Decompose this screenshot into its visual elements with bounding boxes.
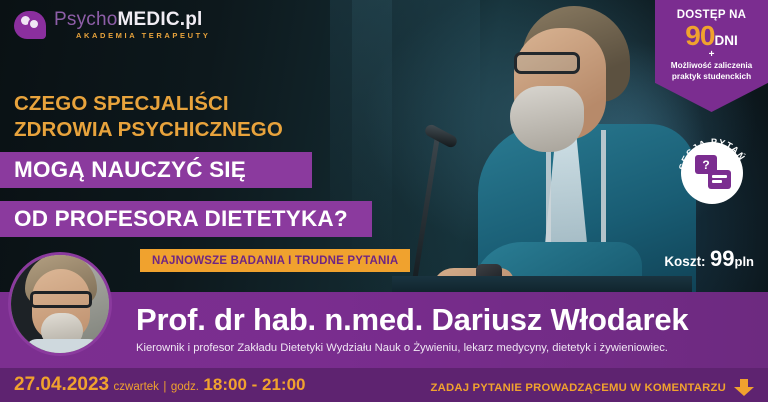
event-datetime: 27.04.2023 czwartek | godz. 18:00 - 21:0… xyxy=(14,374,306,396)
headline-line-2: ZDROWIA PSYCHICZNEGO xyxy=(14,118,283,142)
promo-banner: PsychoMEDIC.pl AKADEMIA TERAPEUTY CZEGO … xyxy=(0,0,768,402)
brand-tagline: AKADEMIA TERAPEUTY xyxy=(54,32,210,40)
speaker-name: Prof. dr hab. n.med. Dariusz Włodarek xyxy=(136,302,688,338)
brand-logo[interactable]: PsychoMEDIC.pl AKADEMIA TERAPEUTY xyxy=(14,9,210,41)
access-days-number: 90 xyxy=(685,20,714,51)
headline-line-1: CZEGO SPECJALIŚCI xyxy=(14,92,229,116)
hour-label: godz. xyxy=(171,381,199,393)
headline-subbadge: NAJNOWSZE BADANIA I TRUDNE PYTANIA xyxy=(140,249,410,272)
price-amount: 99 xyxy=(710,246,734,271)
promo-plus-sign: + xyxy=(655,49,768,60)
price-label: Koszt: xyxy=(664,254,705,269)
headline-line-3: MOGĄ NAUCZYĆ SIĘ xyxy=(0,157,246,183)
price-currency: pln xyxy=(735,254,755,269)
event-date: 27.04.2023 xyxy=(14,374,109,395)
brand-name-part1: Psycho xyxy=(54,9,118,30)
headline-line-4: OD PROFESORA DIETETYKA? xyxy=(0,206,348,232)
promo-extra-text: Możliwość zaliczenia praktyk studenckich xyxy=(655,61,768,82)
event-time-range: 18:00 - 21:00 xyxy=(203,375,305,394)
comment-cta-label: ZADAJ PYTANIE PROWADZĄCEMU W KOMENTARZU xyxy=(431,382,726,394)
comment-cta[interactable]: ZADAJ PYTANIE PROWADZĄCEMU W KOMENTARZU xyxy=(431,379,754,396)
price-block: Koszt: 99pln xyxy=(664,246,754,272)
datetime-separator: | xyxy=(163,381,166,393)
headline-bar-1: MOGĄ NAUCZYĆ SIĘ xyxy=(0,152,312,188)
speech-bubble-answer-icon xyxy=(708,170,731,189)
headline-bar-2: OD PROFESORA DIETETYKA? xyxy=(0,201,372,237)
event-weekday: czwartek xyxy=(114,381,159,393)
access-days-unit: DNI xyxy=(714,33,737,48)
speaker-subtitle: Kierownik i profesor Zakładu Dietetyki W… xyxy=(136,342,668,354)
qa-session-badge[interactable]: ? xyxy=(681,142,743,204)
speaker-glasses xyxy=(514,52,580,74)
speaker-beard xyxy=(510,86,584,152)
head-with-gears-icon xyxy=(14,9,48,41)
brand-name-part2: MEDIC.pl xyxy=(118,9,203,30)
arrow-down-icon xyxy=(734,379,754,396)
headline-badge-text: NAJNOWSZE BADANIA I TRUDNE PYTANIA xyxy=(152,255,398,267)
avatar xyxy=(8,252,112,356)
